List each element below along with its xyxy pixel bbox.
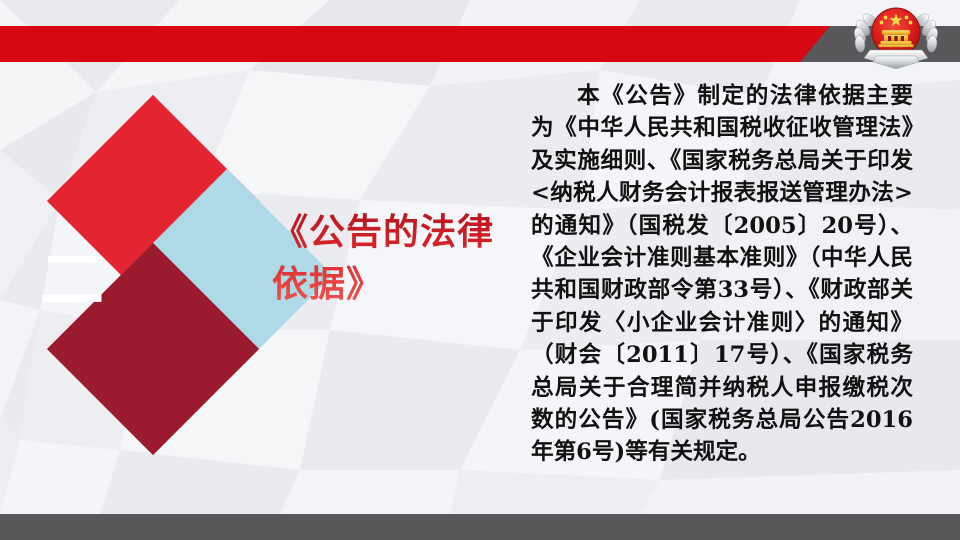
slide-body-text: 本《公告》制定的法律依据主要为《中华人民共和国税收征收管理法》及实施细则、《国家… (531, 80, 913, 469)
section-number: 二 (40, 250, 110, 312)
slide-header (0, 0, 960, 72)
china-tax-administration-emblem (836, 2, 956, 70)
slide-footer-bar (0, 514, 960, 540)
presentation-slide: 二 《公告的法律依据》 本《公告》制定的法律依据主要为《中华人民共和国税收征收管… (0, 0, 960, 540)
header-red-banner (0, 26, 830, 62)
slide-title: 《公告的法律依据》 (272, 206, 502, 310)
